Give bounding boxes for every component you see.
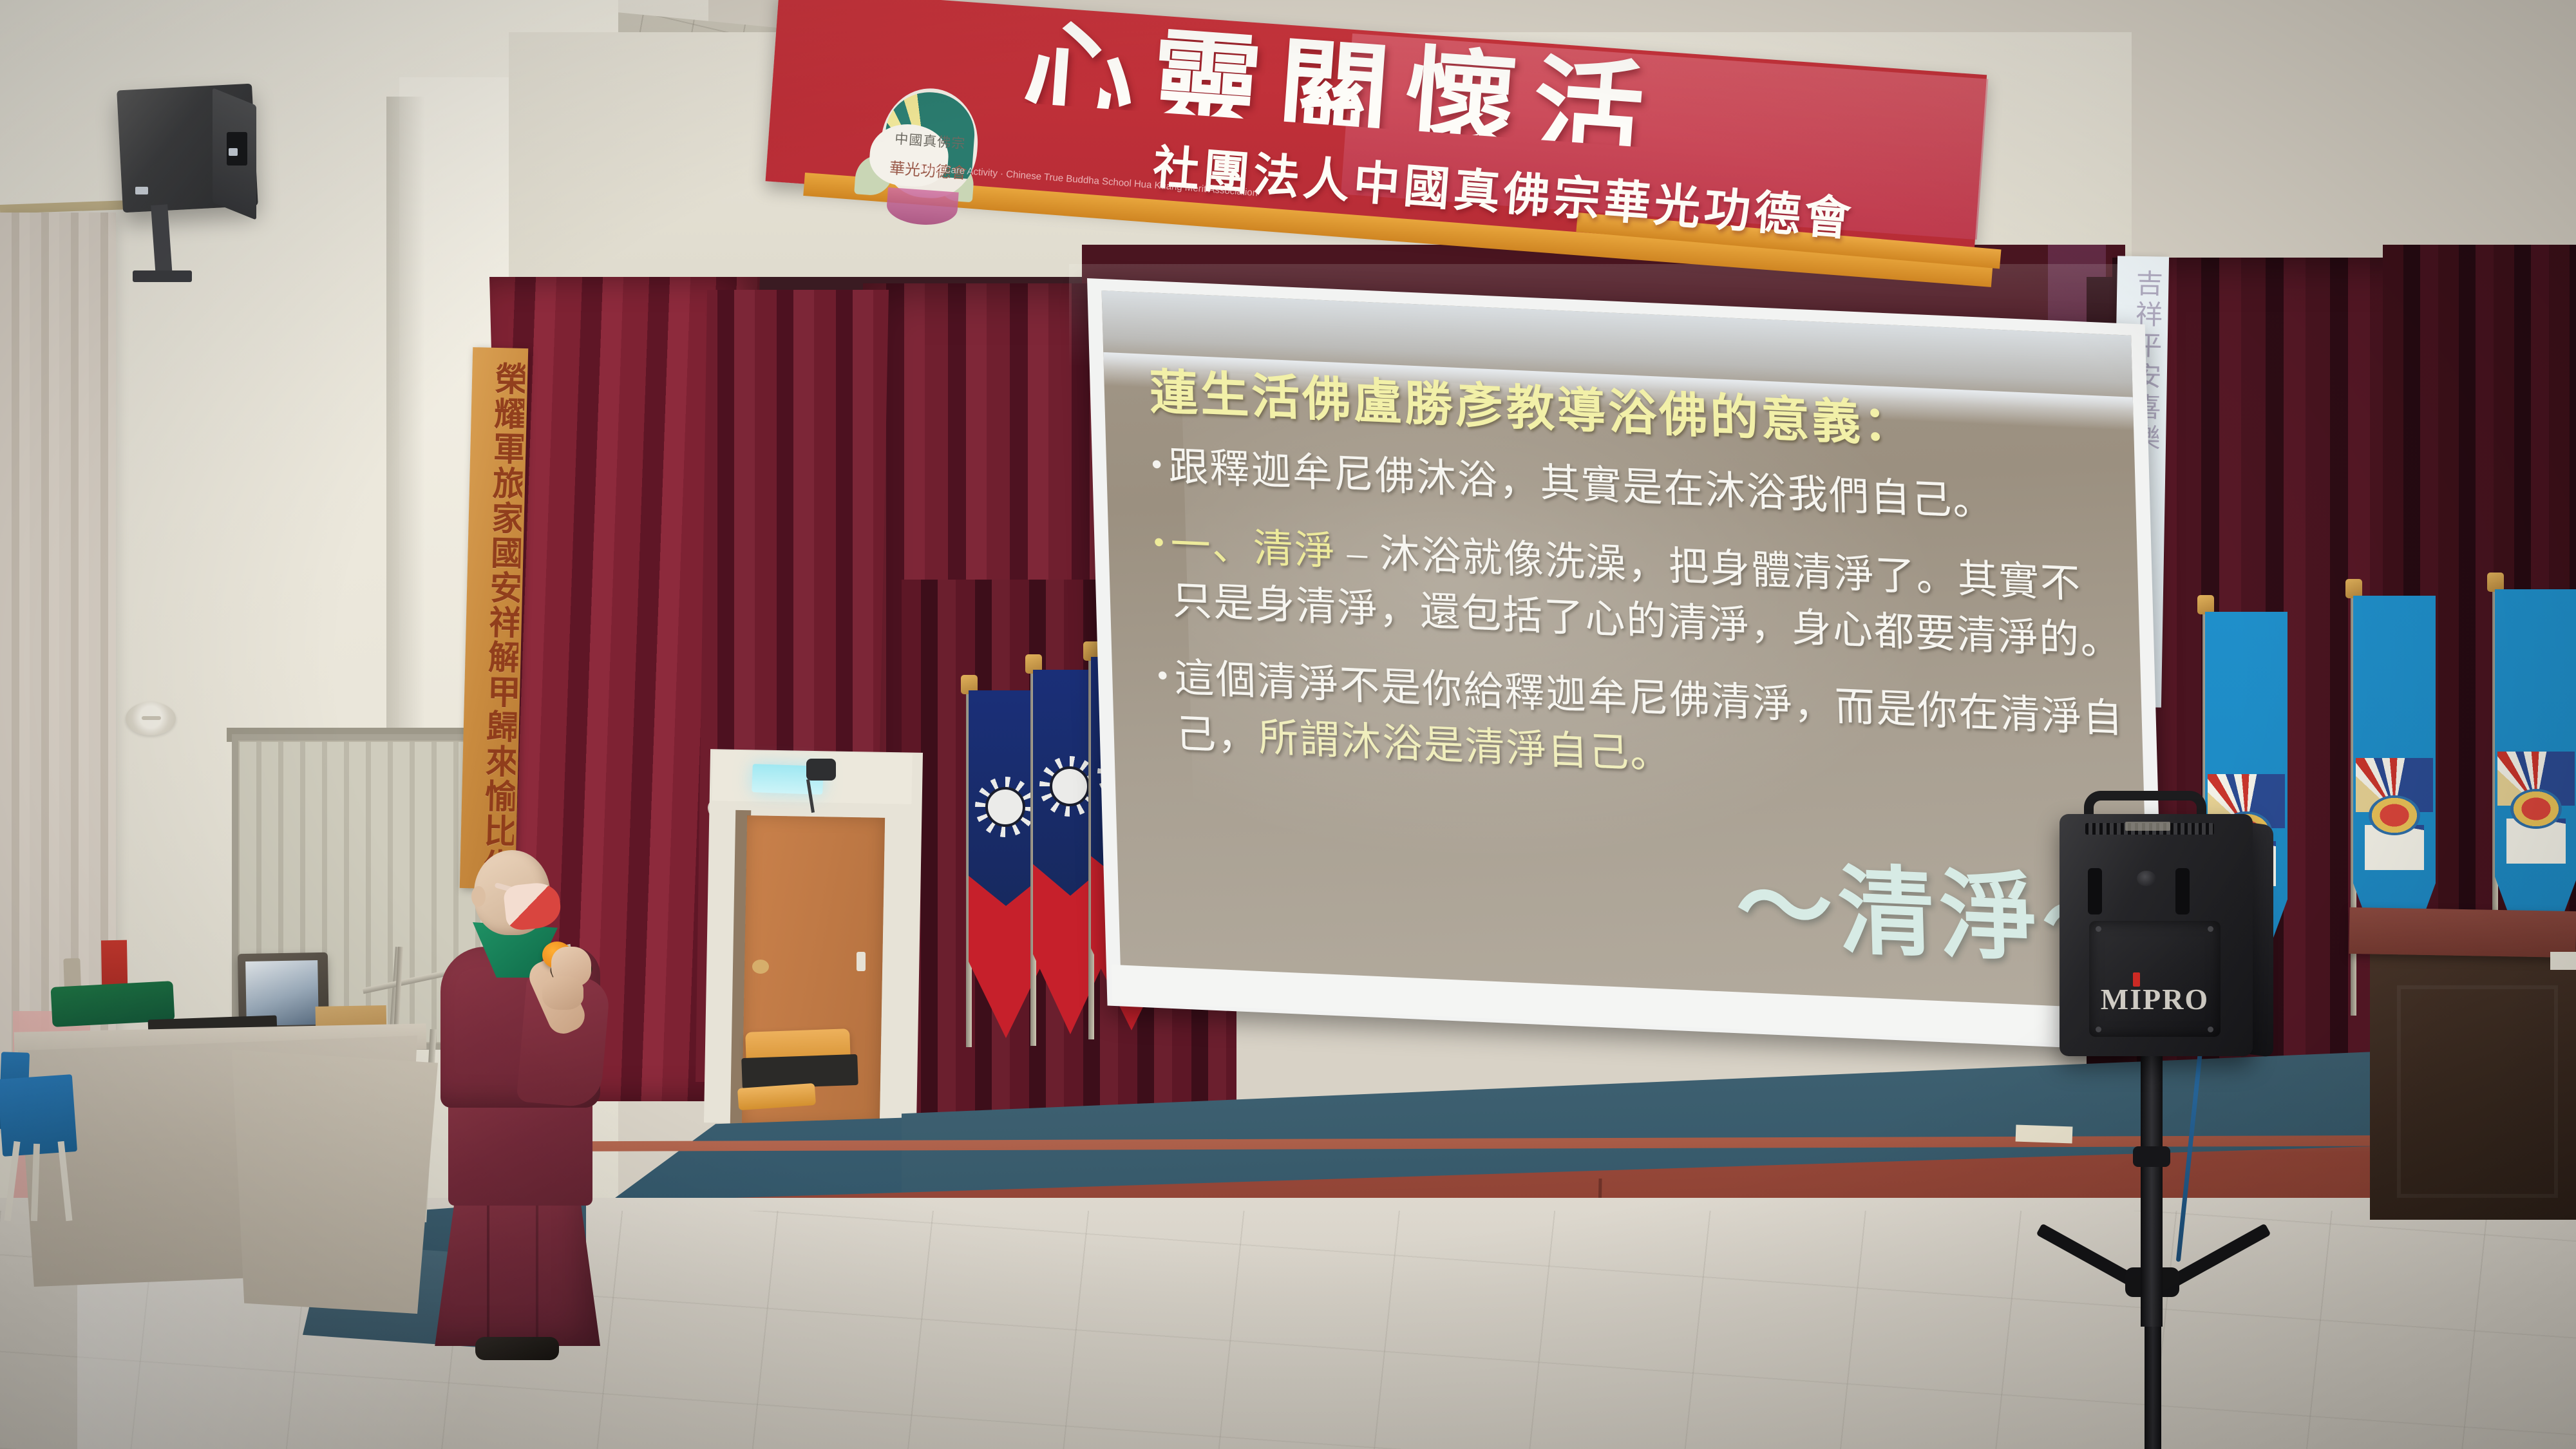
org-flag-emblem <box>2356 758 2433 874</box>
flagpole-finial <box>2487 573 2504 592</box>
screen-surface: 蓮生活佛盧勝彥教導浴佛的意義： • 跟釋迦牟尼佛沐浴，其實是在沐浴我們自己。 •… <box>1102 290 2150 1019</box>
podium-side-object <box>2550 952 2576 970</box>
slide-bullet: • 這個清淨不是你給釋迦牟尼佛清淨，而是你在清淨自己，所謂沐浴是清淨自己。 <box>1157 650 2127 804</box>
pa-speaker-port-left <box>2088 868 2102 914</box>
wall-vent-slat <box>142 716 161 720</box>
pa-grille-screw <box>2096 1027 2101 1032</box>
pa-speaker-grille <box>2089 921 2221 1037</box>
presenter-hand <box>542 976 583 1010</box>
flagpole-finial <box>2345 579 2362 598</box>
tripod-height-collar[interactable] <box>2133 1146 2170 1167</box>
podium-top <box>2349 907 2576 958</box>
roc-flag-sun-disc <box>1050 766 1090 806</box>
bullet-lead: 一、清淨 <box>1170 523 1336 574</box>
organization-emblem-icon: 中國真佛宗 華光功德會 <box>855 79 1005 243</box>
projection-screen: 蓮生活佛盧勝彥教導浴佛的意義： • 跟釋迦牟尼佛沐浴，其實是在沐浴我們自己。 •… <box>1087 278 2165 1052</box>
org-emblem-disc <box>2510 789 2562 829</box>
stage-paper-scrap <box>2016 1124 2073 1143</box>
pa-grille-screw <box>2208 926 2213 932</box>
face-mask-icon <box>503 881 563 932</box>
auditorium-scene: 榮耀軍旅家國安祥解甲歸來愉比生 吉祥平安喜樂 <box>0 0 2576 1449</box>
presenter-person <box>425 850 612 1340</box>
door-latch-icon[interactable] <box>857 952 866 971</box>
pa-brand-logo: MIPRO <box>2098 984 2211 1015</box>
presenter-ear <box>471 886 486 907</box>
slide-content: 蓮生活佛盧勝彥教導浴佛的意義： • 跟釋迦牟尼佛沐浴，其實是在沐浴我們自己。 •… <box>1149 368 2133 1009</box>
pa-speaker-port-right <box>2175 868 2190 914</box>
slide-bullet: • 一、清淨 – 沐浴就像洗澡，把身體清淨了。其實不只是身清淨，還包括了心的清淨… <box>1153 516 2123 670</box>
bullet-text: 一、清淨 – 沐浴就像洗澡，把身體清淨了。其實不只是身清淨，還包括了心的清淨，身… <box>1170 517 2124 670</box>
wall-speaker-bracket-foot <box>133 270 192 282</box>
pa-speaker-horn <box>2137 871 2156 886</box>
bullet-marker: • <box>1153 527 1164 557</box>
camera-icon <box>806 759 836 781</box>
roc-flag-sun-disc <box>985 787 1025 827</box>
presenter-shoe <box>475 1337 559 1360</box>
control-desk-tablecloth-side <box>232 1050 438 1314</box>
bullet-marker: • <box>1157 660 1168 690</box>
org-flag-emblem <box>2497 752 2575 867</box>
bullet-highlight: 所謂沐浴是清淨自己。 <box>1258 716 1672 778</box>
pa-speaker-model-label <box>2125 822 2170 831</box>
org-emblem-disc <box>2369 795 2420 835</box>
pa-grille-screw <box>2096 926 2101 932</box>
bullet-text: 跟釋迦牟尼佛沐浴，其實是在沐浴我們自己。 <box>1168 439 1995 531</box>
door-knob-icon[interactable] <box>752 960 769 974</box>
wall-speaker-badge <box>135 187 148 194</box>
podium-panel-inset <box>2397 985 2558 1198</box>
flagpole-finial <box>2197 595 2214 614</box>
pa-grille-screw <box>2208 1027 2213 1032</box>
bullet-text: 這個清淨不是你給釋迦牟尼佛清淨，而是你在清淨自己，所謂沐浴是清淨自己。 <box>1173 650 2127 804</box>
tripod-column <box>2141 1050 2163 1327</box>
bullet-marker: • <box>1151 449 1162 479</box>
wall-speaker-led <box>229 148 238 156</box>
